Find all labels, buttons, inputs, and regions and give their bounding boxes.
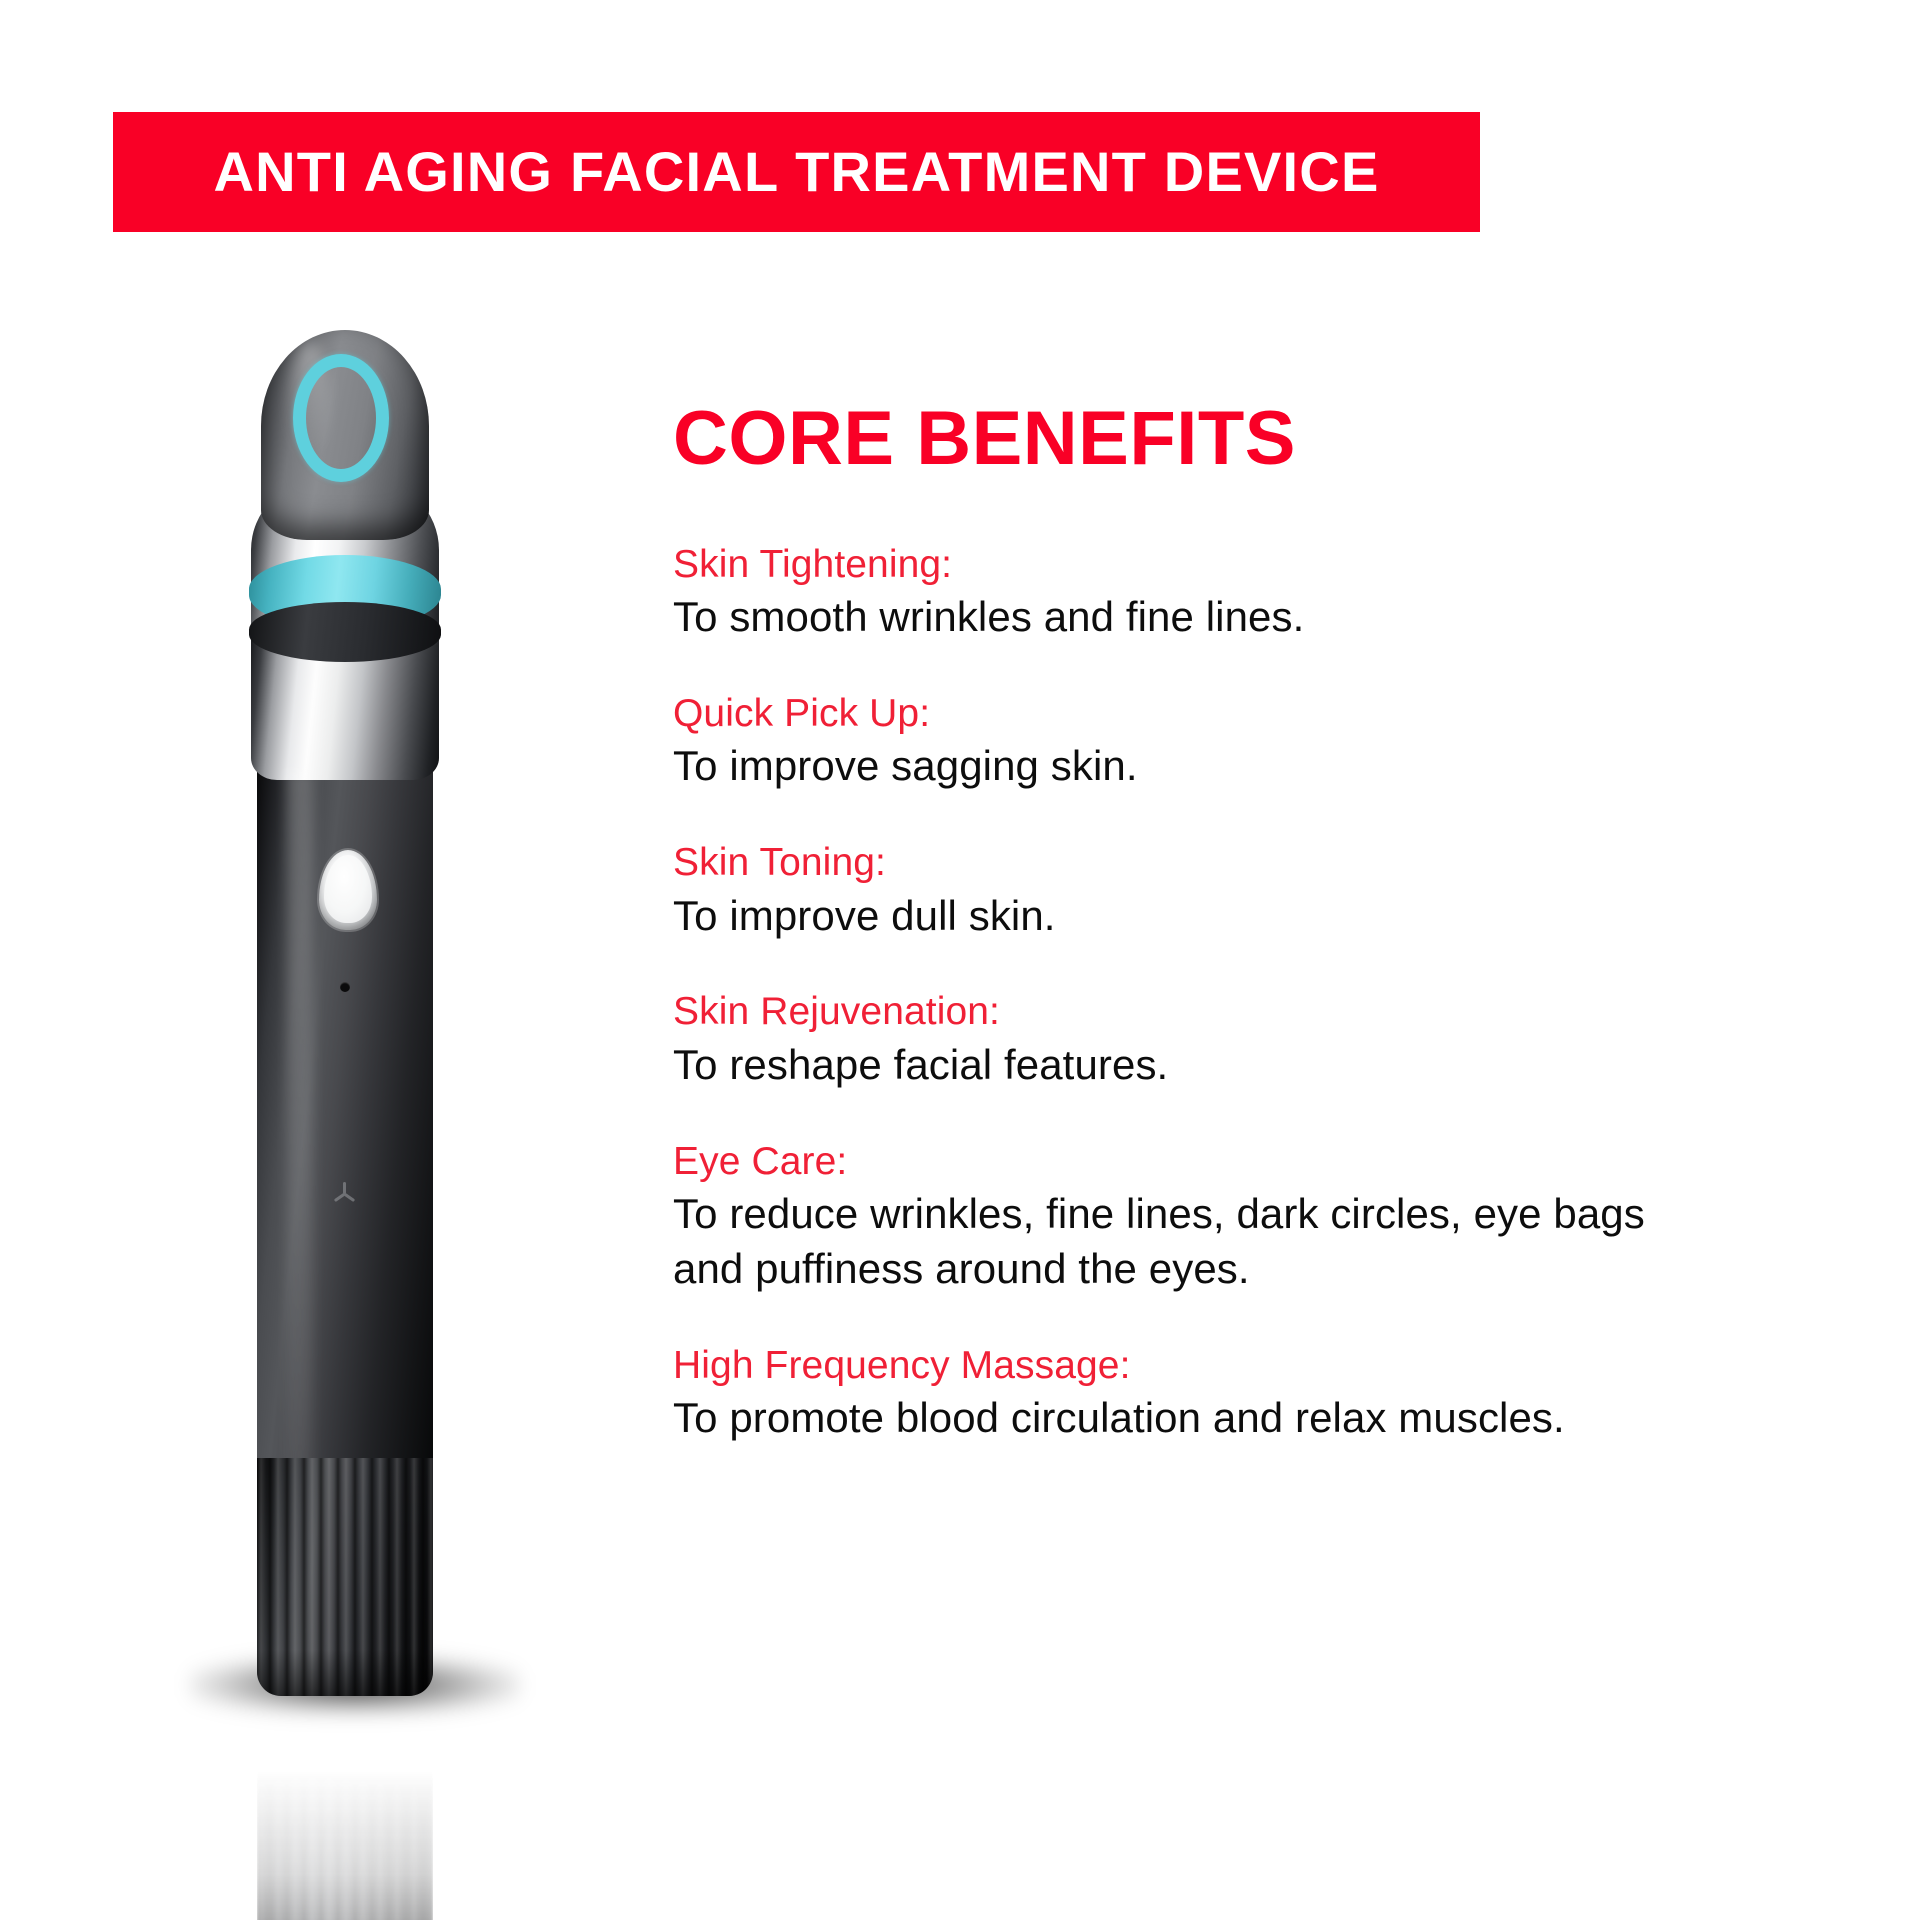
benefit-description: To improve dull skin.: [673, 889, 1673, 944]
product-image: [150, 330, 570, 1810]
benefit-item-skin-tightening: Skin Tightening: To smooth wrinkles and …: [673, 540, 1803, 645]
benefit-description: To promote blood circulation and relax m…: [673, 1391, 1673, 1446]
benefit-item-quick-pick-up: Quick Pick Up: To improve sagging skin.: [673, 689, 1803, 794]
benefit-description: To reduce wrinkles, fine lines, dark cir…: [673, 1187, 1673, 1296]
benefit-item-skin-rejuvenation: Skin Rejuvenation: To reshape facial fea…: [673, 987, 1803, 1092]
benefit-title: Quick Pick Up:: [673, 689, 1803, 740]
benefit-title: High Frequency Massage:: [673, 1341, 1803, 1392]
grip-base-shading: [257, 1650, 433, 1696]
reflection-ribs: [257, 1702, 433, 1920]
dark-accent-band: [249, 602, 441, 662]
benefit-item-high-frequency-massage: High Frequency Massage: To promote blood…: [673, 1341, 1803, 1446]
benefits-section: CORE BENEFITS Skin Tightening: To smooth…: [673, 400, 1803, 1446]
device-body: [245, 330, 445, 1695]
benefit-description: To improve sagging skin.: [673, 739, 1673, 794]
benefit-title: Skin Tightening:: [673, 540, 1803, 591]
led-indicator-icon: [340, 982, 350, 992]
benefit-item-skin-toning: Skin Toning: To improve dull skin.: [673, 838, 1803, 943]
benefits-heading: CORE BENEFITS: [673, 400, 1803, 478]
fluted-grip: [257, 1458, 433, 1696]
benefit-title: Skin Rejuvenation:: [673, 987, 1803, 1038]
teal-tip-ring-icon: [293, 354, 389, 482]
benefit-title: Eye Care:: [673, 1137, 1803, 1188]
header-banner: ANTI AGING FACIAL TREATMENT DEVICE: [113, 112, 1480, 232]
tri-radiant-mark-icon: [333, 1182, 357, 1204]
handle-sheen-highlight: [287, 770, 313, 1530]
banner-title: ANTI AGING FACIAL TREATMENT DEVICE: [214, 144, 1380, 200]
benefit-item-eye-care: Eye Care: To reduce wrinkles, fine lines…: [673, 1137, 1803, 1297]
benefit-description: To reshape facial features.: [673, 1038, 1673, 1093]
benefit-title: Skin Toning:: [673, 838, 1803, 889]
device-reflection: [257, 1702, 433, 1920]
infographic-page: ANTI AGING FACIAL TREATMENT DEVICE: [0, 0, 1920, 1920]
benefit-description: To smooth wrinkles and fine lines.: [673, 590, 1673, 645]
